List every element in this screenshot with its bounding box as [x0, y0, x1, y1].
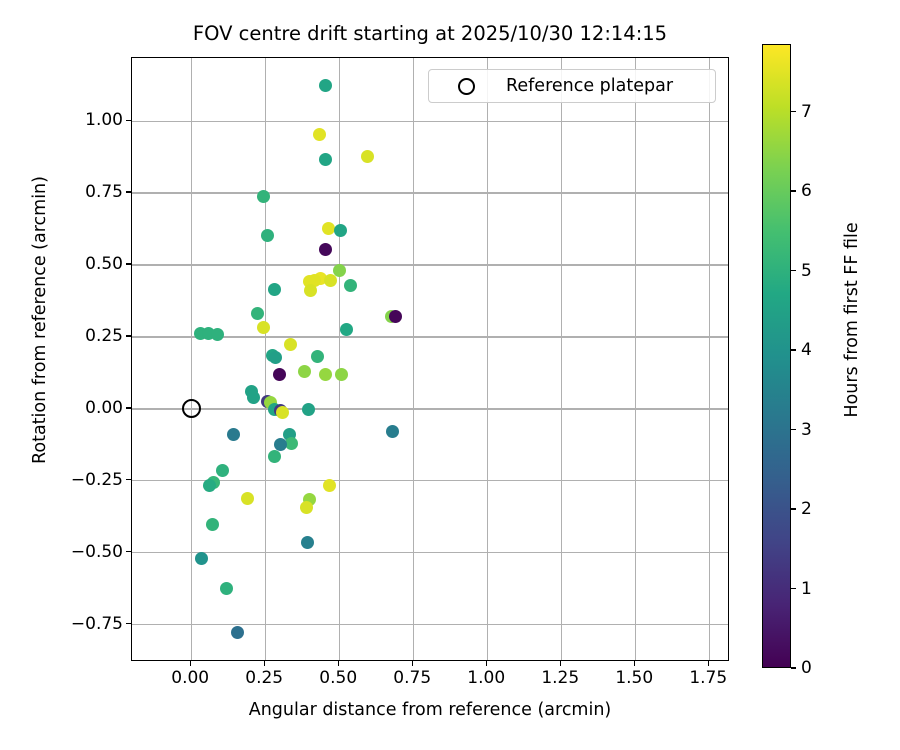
scatter-point [231, 626, 244, 639]
scatter-point [344, 279, 357, 292]
scatter-point [268, 450, 281, 463]
colorbar-tick-label: 3 [801, 420, 812, 440]
scatter-point [269, 351, 282, 364]
colorbar-tick-label: 5 [801, 261, 812, 281]
y-axis-tick-label: 0.75 [53, 182, 123, 202]
colorbar-tick [791, 349, 796, 350]
scatter-point [334, 224, 347, 237]
legend-label: Reference platepar [506, 76, 673, 96]
y-gridline [132, 408, 728, 409]
x-axis-label: Angular distance from reference (arcmin) [131, 700, 729, 720]
scatter-point [304, 284, 317, 297]
scatter-point [386, 425, 399, 438]
x-axis-tick [338, 661, 339, 666]
y-axis-tick-label: 1.00 [53, 110, 123, 130]
scatter-point [284, 338, 297, 351]
y-axis-tick [126, 120, 131, 121]
x-axis-tick-label: 0.00 [171, 668, 209, 688]
x-axis-tick-label: 1.75 [689, 668, 727, 688]
colorbar-tick [791, 667, 796, 668]
y-gridline [132, 552, 728, 553]
colorbar-tick-label: 4 [801, 340, 812, 360]
y-axis-tick-label: −0.50 [53, 542, 123, 562]
x-axis-tick-label: 1.00 [467, 668, 505, 688]
scatter-point [302, 403, 315, 416]
scatter-point [322, 222, 335, 235]
x-gridline [339, 58, 340, 660]
y-gridline [132, 624, 728, 625]
scatter-point [313, 128, 326, 141]
scatter-point [268, 283, 281, 296]
y-axis-tick [126, 335, 131, 336]
scatter-point [220, 582, 233, 595]
scatter-point [361, 150, 374, 163]
scatter-point [211, 328, 224, 341]
scatter-point [301, 536, 314, 549]
chart-title: FOV centre drift starting at 2025/10/30 … [0, 22, 860, 45]
y-axis-tick [126, 479, 131, 480]
legend[interactable]: Reference platepar [428, 69, 716, 103]
scatter-point [261, 229, 274, 242]
colorbar-tick-label: 1 [801, 579, 812, 599]
scatter-point [340, 323, 353, 336]
colorbar-tick-label: 6 [801, 181, 812, 201]
colorbar-tick [791, 588, 796, 589]
scatter-point [335, 368, 348, 381]
scatter-point [276, 406, 289, 419]
reference-platepar-marker [182, 399, 201, 418]
x-axis-tick-label: 0.25 [245, 668, 283, 688]
scatter-point [389, 310, 402, 323]
y-axis-tick-label: 0.50 [53, 254, 123, 274]
scatter-point [298, 365, 311, 378]
y-gridline [132, 480, 728, 481]
x-axis-tick-label: 1.50 [615, 668, 653, 688]
y-axis-label: Rotation from reference (arcmin) [30, 40, 50, 600]
colorbar-gradient [762, 44, 791, 668]
x-axis-tick [412, 661, 413, 666]
scatter-point [285, 437, 298, 450]
x-gridline [561, 58, 562, 660]
scatter-point [300, 501, 313, 514]
x-gridline [635, 58, 636, 660]
colorbar-label: Hours from first FF file [842, 20, 862, 620]
y-gridline [132, 264, 728, 265]
scatter-point [203, 479, 216, 492]
plot-area[interactable] [131, 57, 729, 661]
x-axis-tick [486, 661, 487, 666]
colorbar-tick [791, 429, 796, 430]
colorbar-tick-label: 2 [801, 499, 812, 519]
y-axis-tick-label: 0.25 [53, 326, 123, 346]
scatter-point [227, 428, 240, 441]
y-axis-tick [126, 623, 131, 624]
colorbar-tick-label: 0 [801, 658, 812, 678]
colorbar-tick [791, 190, 796, 191]
scatter-point [195, 552, 208, 565]
y-axis-tick-label: −0.75 [53, 614, 123, 634]
x-axis-tick [560, 661, 561, 666]
scatter-point [257, 321, 270, 334]
figure-canvas: FOV centre drift starting at 2025/10/30 … [0, 0, 900, 750]
y-axis-tick [126, 551, 131, 552]
scatter-point [251, 307, 264, 320]
colorbar-tick [791, 270, 796, 271]
colorbar[interactable]: 01234567 [762, 44, 791, 668]
x-axis-tick-label: 0.75 [393, 668, 431, 688]
x-axis-tick [634, 661, 635, 666]
y-axis-tick-label: 0.00 [53, 398, 123, 418]
scatter-point [257, 190, 270, 203]
y-gridline [132, 121, 728, 122]
scatter-point [206, 518, 219, 531]
scatter-point [241, 492, 254, 505]
reference-platepar-marker-icon [458, 78, 475, 95]
x-gridline [413, 58, 414, 660]
x-gridline [191, 58, 192, 660]
y-axis-tick-label: −0.25 [53, 470, 123, 490]
scatter-point [319, 243, 332, 256]
x-axis-tick [264, 661, 265, 666]
x-axis-tick-label: 0.50 [319, 668, 357, 688]
x-axis-tick-label: 1.25 [541, 668, 579, 688]
y-axis-tick [126, 191, 131, 192]
colorbar-tick [791, 111, 796, 112]
scatter-point [247, 391, 260, 404]
scatter-point [324, 274, 337, 287]
scatter-point [311, 350, 324, 363]
colorbar-tick [791, 508, 796, 509]
y-axis-tick [126, 263, 131, 264]
x-axis-tick [708, 661, 709, 666]
x-axis-tick [190, 661, 191, 666]
x-gridline [265, 58, 266, 660]
colorbar-tick-label: 7 [801, 102, 812, 122]
scatter-point [323, 479, 336, 492]
x-gridline [487, 58, 488, 660]
y-axis-tick [126, 407, 131, 408]
x-gridline [709, 58, 710, 660]
scatter-point [319, 79, 332, 92]
y-gridline [132, 192, 728, 193]
scatter-point [273, 368, 286, 381]
scatter-point [216, 464, 229, 477]
scatter-point [319, 368, 332, 381]
scatter-point [319, 153, 332, 166]
